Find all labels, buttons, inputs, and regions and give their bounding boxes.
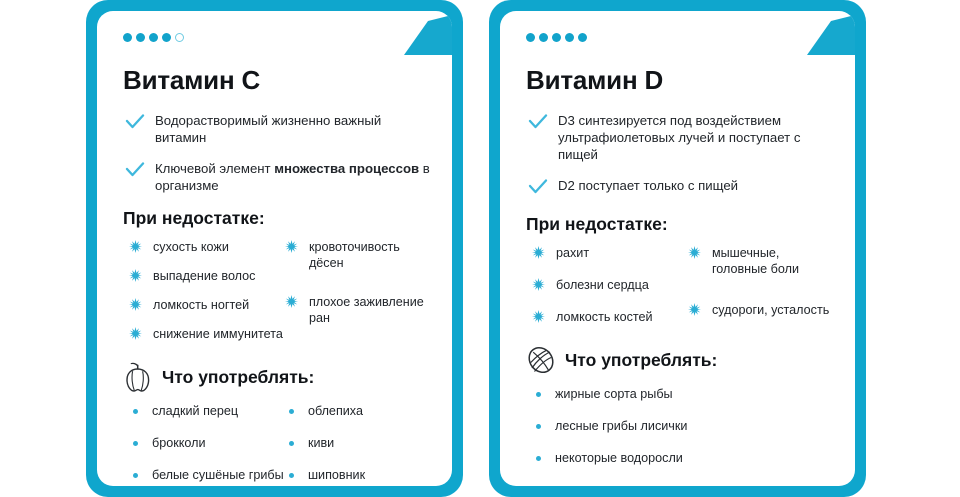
bullet-dot-icon [536, 424, 541, 429]
list-item: Ключевой элемент множества процессов в о… [125, 160, 430, 194]
progress-dot [149, 33, 158, 42]
key-facts-list-vitamin-c: Водорастворимый жизненно важный витамин … [125, 112, 430, 194]
list-item: выпадение волос [129, 268, 285, 284]
list-item: сухость кожи [129, 239, 285, 255]
progress-dot [526, 33, 535, 42]
sparkle-icon [129, 240, 142, 253]
deficiency-heading-vitamin-c: При недостатке: [123, 208, 430, 229]
foods-heading-row-vitamin-c: Что употреблять: [123, 361, 430, 393]
card-title-vitamin-c: Витамин C [123, 65, 430, 96]
food-item-text: лесные грибы лисички [555, 418, 687, 434]
deficiency-item-text: ломкость ногтей [153, 297, 249, 313]
progress-dot [578, 33, 587, 42]
fish-icon [526, 344, 556, 376]
bullet-dot-icon [536, 456, 541, 461]
food-item-text: некоторые водоросли [555, 450, 683, 466]
bullet-dot-icon [289, 409, 294, 414]
list-item: D2 поступает только с пищей [528, 177, 833, 196]
sparkle-icon [532, 310, 545, 323]
sparkle-icon [688, 246, 701, 259]
sparkle-icon [129, 269, 142, 282]
foods-grid-vitamin-d: жирные сорта рыбы лесные грибы лисички н… [532, 386, 833, 482]
list-item: Водорастворимый жизненно важный витамин [125, 112, 430, 146]
bullet-dot-icon [289, 441, 294, 446]
list-item: некоторые водоросли [532, 450, 833, 466]
bullet-dot-icon [133, 409, 138, 414]
key-fact-text: Водорастворимый жизненно важный витамин [155, 112, 430, 146]
foods-grid-vitamin-c: сладкий перец брокколи белые сушёные гри… [129, 403, 430, 486]
card-inner-vitamin-c: Витамин C Водорастворимый жизненно важны… [97, 11, 452, 486]
bullet-dot-icon [133, 441, 138, 446]
food-item-text: брокколи [152, 435, 206, 451]
progress-dot [539, 33, 548, 42]
check-icon [528, 178, 548, 196]
deficiency-item-text: сухость кожи [153, 239, 229, 255]
deficiency-item-text: выпадение волос [153, 268, 255, 284]
list-item: болезни сердца [532, 277, 688, 293]
check-icon [125, 161, 145, 179]
card-title-vitamin-d: Витамин D [526, 65, 833, 96]
foods-heading-text: Что употреблять: [162, 367, 314, 388]
bell-pepper-icon [123, 361, 153, 393]
deficiency-grid-vitamin-d: рахит болезни сердца ломкость костей [532, 245, 833, 338]
progress-dot [175, 33, 184, 42]
list-item: кровоточивость дёсен [285, 239, 430, 271]
sparkle-icon [285, 240, 298, 253]
deficiency-heading-vitamin-d: При недостатке: [526, 214, 833, 235]
deficiency-item-text: рахит [556, 245, 589, 261]
key-fact-text: D2 поступает только с пищей [558, 177, 738, 194]
progress-dots-vitamin-c [123, 29, 430, 45]
bullet-dot-icon [133, 473, 138, 478]
deficiency-item-text: болезни сердца [556, 277, 649, 293]
check-icon [528, 113, 548, 131]
list-item: шиповник [285, 467, 430, 483]
deficiency-column-left: сухость кожи выпадение волос ломкость но… [129, 239, 285, 355]
card-vitamin-c: Витамин C Водорастворимый жизненно важны… [86, 0, 463, 497]
food-item-text: сладкий перец [152, 403, 238, 419]
sparkle-icon [532, 246, 545, 259]
deficiency-item-text: мышечные, головные боли [712, 245, 833, 277]
list-item: ломкость ногтей [129, 297, 285, 313]
sparkle-icon [532, 278, 545, 291]
deficiency-item-text: ломкость костей [556, 309, 653, 325]
key-fact-text: Ключевой элемент множества процессов в о… [155, 160, 430, 194]
deficiency-item-text: снижение иммунитета [153, 326, 283, 342]
progress-dot [565, 33, 574, 42]
bullet-dot-icon [289, 473, 294, 478]
list-item: ломкость костей [532, 309, 688, 325]
list-item: лесные грибы лисички [532, 418, 833, 434]
list-item: белые сушёные грибы [129, 467, 285, 483]
list-item: жирные сорта рыбы [532, 386, 833, 402]
deficiency-item-text: судороги, усталость [712, 302, 829, 318]
list-item: киви [285, 435, 430, 451]
list-item: рахит [532, 245, 688, 261]
card-inner-vitamin-d: Витамин D D3 синтезируется под воздейств… [500, 11, 855, 486]
list-item: мышечные, головные боли [688, 245, 833, 277]
food-item-text: шиповник [308, 467, 365, 483]
check-icon [125, 113, 145, 131]
deficiency-item-text: кровоточивость дёсен [309, 239, 430, 271]
foods-column-left: жирные сорта рыбы лесные грибы лисички н… [532, 386, 833, 482]
food-item-text: белые сушёные грибы [152, 467, 284, 483]
sparkle-icon [129, 327, 142, 340]
foods-column-left: сладкий перец брокколи белые сушёные гри… [129, 403, 285, 486]
progress-dot [136, 33, 145, 42]
bullet-dot-icon [536, 392, 541, 397]
list-item: судороги, усталость [688, 302, 833, 318]
deficiency-column-right: мышечные, головные боли судороги, устало… [688, 245, 833, 338]
key-fact-text: D3 синтезируется под воздействием ультра… [558, 112, 833, 163]
food-item-text: киви [308, 435, 334, 451]
list-item: брокколи [129, 435, 285, 451]
progress-dot [162, 33, 171, 42]
food-item-text: облепиха [308, 403, 363, 419]
deficiency-grid-vitamin-c: сухость кожи выпадение волос ломкость но… [129, 239, 430, 355]
deficiency-column-right: кровоточивость дёсен плохое заживление р… [285, 239, 430, 355]
foods-column-right: облепиха киви шиповник [285, 403, 430, 486]
progress-dots-vitamin-d [526, 29, 833, 45]
poster-canvas: Витамин C Водорастворимый жизненно важны… [0, 0, 960, 497]
list-item: сладкий перец [129, 403, 285, 419]
deficiency-column-left: рахит болезни сердца ломкость костей [532, 245, 688, 338]
list-item: снижение иммунитета [129, 326, 285, 342]
progress-dot [552, 33, 561, 42]
key-facts-list-vitamin-d: D3 синтезируется под воздействием ультра… [528, 112, 833, 196]
foods-heading-row-vitamin-d: Что употреблять: [526, 344, 833, 376]
card-vitamin-d: Витамин D D3 синтезируется под воздейств… [489, 0, 866, 497]
food-item-text: жирные сорта рыбы [555, 386, 673, 402]
sparkle-icon [129, 298, 142, 311]
foods-heading-text: Что употреблять: [565, 350, 717, 371]
progress-dot [123, 33, 132, 42]
sparkle-icon [688, 303, 701, 316]
sparkle-icon [285, 295, 298, 308]
deficiency-item-text: плохое заживление ран [309, 294, 430, 326]
list-item: D3 синтезируется под воздействием ультра… [528, 112, 833, 163]
list-item: плохое заживление ран [285, 294, 430, 326]
list-item: облепиха [285, 403, 430, 419]
